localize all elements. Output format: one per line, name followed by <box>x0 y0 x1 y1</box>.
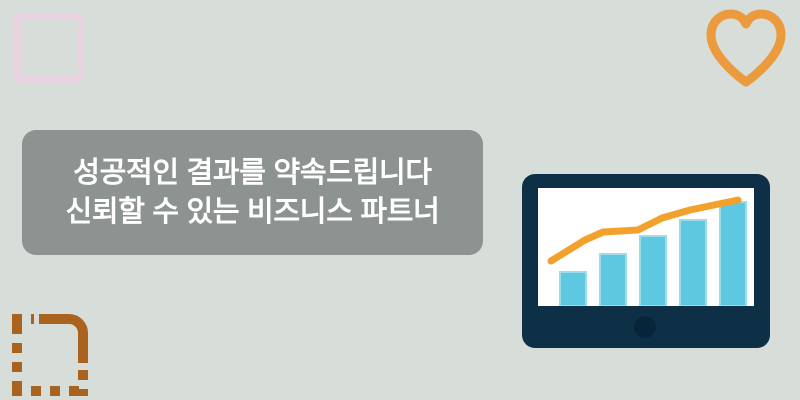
chart-bars <box>560 202 746 306</box>
growth-chart <box>538 188 754 306</box>
headline-line-1: 성공적인 결과를 약속드립니다 <box>73 154 431 192</box>
chart-bar <box>640 236 666 306</box>
dashed-square-icon <box>6 308 96 400</box>
chart-bar <box>560 272 586 306</box>
chart-bar <box>720 202 746 306</box>
tablet-screen <box>538 188 754 306</box>
square-outline-icon <box>14 13 84 83</box>
tablet-illustration <box>522 174 770 348</box>
poster-canvas: 성공적인 결과를 약속드립니다 신뢰할 수 있는 비즈니스 파트너 <box>0 0 800 400</box>
chart-bar <box>680 220 706 306</box>
headline-line-2: 신뢰할 수 있는 비즈니스 파트너 <box>66 193 440 231</box>
tablet-home-button[interactable] <box>634 316 656 338</box>
headline-banner: 성공적인 결과를 약속드립니다 신뢰할 수 있는 비즈니스 파트너 <box>22 130 483 255</box>
heart-outline-icon <box>702 6 790 88</box>
chart-bar <box>600 254 626 306</box>
